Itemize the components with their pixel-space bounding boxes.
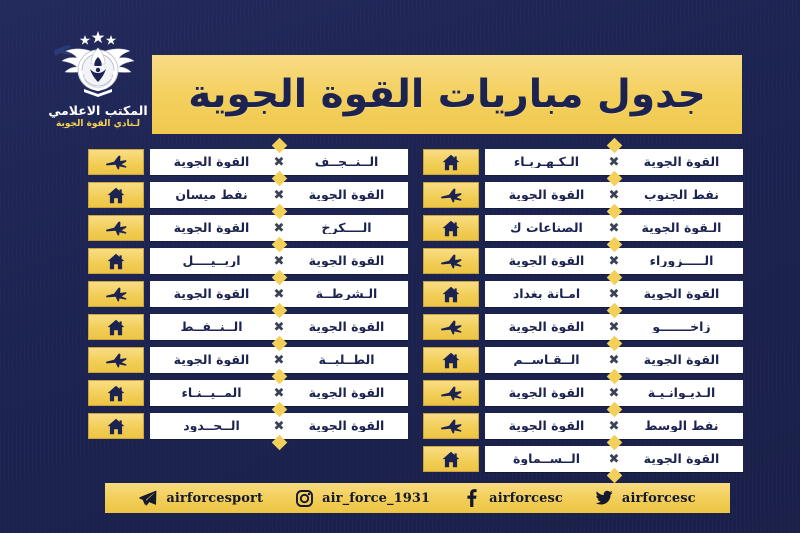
match-column-right: القوة الجوية✖الـكـهـربـاءنفط الجنوب✖القو… [423,149,743,479]
social-handle[interactable]: airforcesc [622,491,696,506]
house-icon [442,154,460,171]
home-venue-badge [88,248,144,274]
match-row: القوة الجوية✖امـانة بغداد [423,281,743,307]
team-name-first: الـشرطــة [289,288,408,301]
house-icon [442,352,460,369]
team-name-first: الــــكرخ [289,222,408,235]
versus-icon: ✖ [604,288,624,301]
versus-icon: ✖ [604,321,624,334]
match-row: الـشرطــة✖القوة الجوية [88,281,408,307]
versus-icon: ✖ [269,189,289,202]
away-venue-badge [423,413,479,439]
plane-icon [440,386,462,401]
team-name-second: امـانة بغداد [485,288,604,301]
team-name-second: القوة الجوية [150,354,269,367]
plane-icon [440,419,462,434]
match-row: القوة الجوية✖الـكـهـربـاء [423,149,743,175]
home-venue-badge [423,215,479,241]
team-name-second: القوة الجوية [485,189,604,202]
team-name-first: نفط الجنوب [624,189,743,202]
air-force-eagle-emblem [46,28,150,102]
home-venue-badge [423,347,479,373]
divider-diamond [606,138,622,154]
versus-icon: ✖ [604,255,624,268]
page-title: جدول مباريات القوة الجوية [188,75,706,114]
house-icon [107,319,125,336]
team-name-first: القوة الجوية [289,189,408,202]
home-venue-badge [88,182,144,208]
house-icon [107,253,125,270]
social-footer-bar: airforcesportair_force_1931airforcescair… [105,483,730,513]
team-name-first: القوة الجوية [289,387,408,400]
versus-icon: ✖ [269,387,289,400]
social-handle[interactable]: air_force_1931 [322,491,430,506]
house-icon [107,385,125,402]
versus-icon: ✖ [269,354,289,367]
telegram-icon[interactable] [139,489,157,507]
away-venue-badge [423,248,479,274]
match-column-left: الــنــجــف✖القوة الجويةالقوة الجوية✖نفط… [88,149,408,446]
away-venue-badge [423,380,479,406]
match-row: القوة الجوية✖نفط ميسان [88,182,408,208]
team-name-first: الــنــجــف [289,156,408,169]
team-name-first: القوة الجوية [289,420,408,433]
social-link[interactable]: air_force_1931 [279,489,446,507]
social-link[interactable]: airforcesc [579,489,712,507]
versus-icon: ✖ [269,255,289,268]
versus-icon: ✖ [604,222,624,235]
versus-icon: ✖ [269,222,289,235]
home-venue-badge [423,446,479,472]
away-venue-badge [88,281,144,307]
social-handle[interactable]: airforcesc [489,491,563,506]
team-name-first: نفط الوسط [624,420,743,433]
away-venue-badge [423,182,479,208]
away-venue-badge [88,347,144,373]
team-name-first: القوة الجوية [624,156,743,169]
social-link[interactable]: airforcesc [446,489,579,507]
match-row: القوة الجوية✖الــقـاســم [423,347,743,373]
team-name-first: الطــلبــة [289,354,408,367]
match-row: القوة الجوية✖الــســماوة [423,446,743,472]
team-name-second: نفط ميسان [150,189,269,202]
versus-icon: ✖ [269,321,289,334]
home-venue-badge [423,281,479,307]
divider-diamond [271,435,287,451]
team-name-second: القوة الجوية [485,420,604,433]
team-name-first: القوة الجوية [289,255,408,268]
away-venue-badge [423,314,479,340]
divider-diamond [271,138,287,154]
plane-icon [440,254,462,269]
match-panel: القوة الجوية✖الــســماوة [485,446,743,472]
match-row: زاخـــــــو✖القوة الجوية [423,314,743,340]
match-row: القوة الجوية✖الــحــدود [88,413,408,439]
versus-icon: ✖ [604,453,624,466]
versus-icon: ✖ [604,420,624,433]
house-icon [442,286,460,303]
team-name-second: الـكـهـربـاء [485,156,604,169]
team-name-second: الــســماوة [485,453,604,466]
team-name-second: القوة الجوية [485,255,604,268]
versus-icon: ✖ [604,189,624,202]
plane-icon [440,188,462,203]
home-venue-badge [88,413,144,439]
team-name-second: الــنــفــط [150,321,269,334]
plane-icon [105,221,127,236]
logo-line-primary: المكتب الاعلامي [48,103,147,118]
home-venue-badge [423,149,479,175]
match-row: الطــلبــة✖القوة الجوية [88,347,408,373]
team-name-first: القوة الجوية [624,354,743,367]
match-row: القوة الجوية✖الــنــفــط [88,314,408,340]
team-name-second: القوة الجوية [485,387,604,400]
match-row: الــــكرخ✖القوة الجوية [88,215,408,241]
social-link[interactable]: airforcesport [123,489,279,507]
home-venue-badge [88,314,144,340]
house-icon [442,220,460,237]
match-row: القوة الجوية✖اربــيــــل [88,248,408,274]
house-icon [442,451,460,468]
home-venue-badge [88,380,144,406]
infographic-canvas: المكتب الاعلامي لـنادي القوة الجوية جدول… [0,0,800,533]
versus-icon: ✖ [604,156,624,169]
logo-line-secondary: لـنادي القوة الجوية [56,119,140,129]
match-row: نفط الوسط✖القوة الجوية [423,413,743,439]
plane-icon [105,287,127,302]
divider-diamond [606,468,622,484]
plane-icon [105,155,127,170]
versus-icon: ✖ [269,156,289,169]
team-name-second: القوة الجوية [150,156,269,169]
team-name-second: القوة الجوية [485,321,604,334]
team-name-first: القوة الجوية [289,321,408,334]
social-handle[interactable]: airforcesport [166,491,263,506]
team-name-first: القوة الجوية [624,288,743,301]
match-row: الـقوة الجوية✖الصناعات ك [423,215,743,241]
versus-icon: ✖ [604,387,624,400]
facebook-icon[interactable] [462,489,480,507]
team-name-second: الصناعات ك [485,222,604,235]
title-banner: جدول مباريات القوة الجوية [152,55,742,134]
match-row: نفط الجنوب✖القوة الجوية [423,182,743,208]
away-venue-badge [88,149,144,175]
team-name-second: اربــيــــل [150,255,269,268]
house-icon [107,418,125,435]
team-name-second: المــيــنـاء [150,387,269,400]
versus-icon: ✖ [604,354,624,367]
match-row: القوة الجوية✖المــيــنـاء [88,380,408,406]
away-venue-badge [88,215,144,241]
team-name-second: الــحــدود [150,420,269,433]
instagram-icon[interactable] [295,489,313,507]
match-panel: القوة الجوية✖الــحــدود [150,413,408,439]
team-name-first: الـقوة الجوية [624,222,743,235]
match-row: الـــــزوراء✖القوة الجوية [423,248,743,274]
club-media-office-logo: المكتب الاعلامي لـنادي القوة الجوية [28,28,168,140]
plane-icon [440,320,462,335]
versus-icon: ✖ [269,420,289,433]
team-name-first: زاخـــــــو [624,321,743,334]
twitter-icon[interactable] [595,489,613,507]
team-name-second: الــقـاســم [485,354,604,367]
team-name-second: القوة الجوية [150,288,269,301]
house-icon [107,187,125,204]
team-name-second: القوة الجوية [150,222,269,235]
team-name-first: الـــــزوراء [624,255,743,268]
match-row: الـديـوانـيـة✖القوة الجوية [423,380,743,406]
plane-icon [105,353,127,368]
versus-icon: ✖ [269,288,289,301]
team-name-first: الـديـوانـيـة [624,387,743,400]
match-row: الــنــجــف✖القوة الجوية [88,149,408,175]
team-name-first: القوة الجوية [624,453,743,466]
